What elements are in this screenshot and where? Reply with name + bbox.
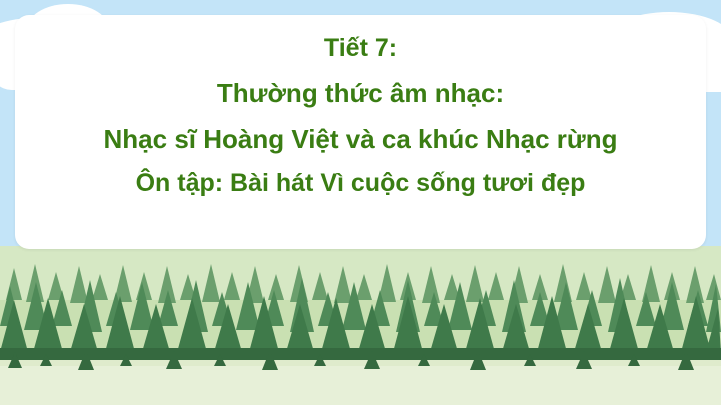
title-line-3: Nhạc sĩ Hoàng Việt và ca khúc Nhạc rừng (104, 125, 618, 154)
title-line-1: Tiết 7: (324, 35, 397, 63)
title-line-4: Ôn tập: Bài hát Vì cuộc sống tươi đẹp (136, 170, 586, 198)
title-card: Tiết 7: Thường thức âm nhạc: Nhạc sĩ Hoà… (15, 15, 706, 249)
title-line-2: Thường thức âm nhạc: (217, 79, 504, 108)
slide-canvas: Tiết 7: Thường thức âm nhạc: Nhạc sĩ Hoà… (0, 0, 721, 405)
title-lines: Tiết 7: Thường thức âm nhạc: Nhạc sĩ Hoà… (15, 15, 706, 249)
